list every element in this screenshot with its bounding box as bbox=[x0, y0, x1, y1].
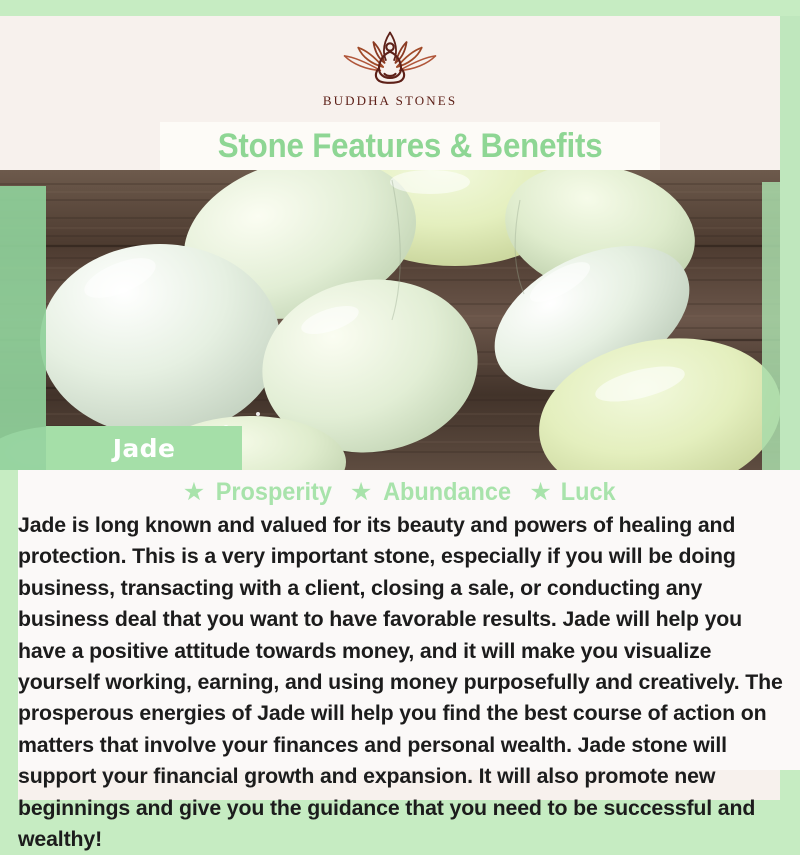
poster-root: BUDDHA STONES Stone Features & Benefits bbox=[0, 0, 800, 800]
stone-photo-image bbox=[0, 170, 800, 470]
stone-name-label: Jade bbox=[113, 434, 176, 463]
stone-photo bbox=[0, 170, 800, 470]
brand-header: BUDDHA STONES bbox=[0, 16, 780, 120]
frame-bar-left bbox=[0, 470, 18, 800]
lotus-meditation-icon bbox=[334, 27, 446, 89]
benefits-row: ★ Prosperity ★ Abundance ★ Luck bbox=[0, 478, 800, 507]
star-icon: ★ bbox=[350, 480, 372, 505]
star-icon: ★ bbox=[183, 480, 205, 505]
photo-accent-bar-right bbox=[762, 182, 782, 470]
brand-name: BUDDHA STONES bbox=[323, 93, 457, 109]
page-title: Stone Features & Benefits bbox=[218, 127, 603, 166]
benefit-item: ★ Prosperity bbox=[183, 478, 336, 507]
photo-accent-bar-left bbox=[0, 186, 46, 470]
benefit-label: Abundance bbox=[383, 478, 511, 507]
benefit-item: ★ Luck bbox=[529, 478, 617, 507]
benefit-label: Prosperity bbox=[216, 478, 332, 507]
description-paragraph: Jade is long known and valued for its be… bbox=[18, 510, 790, 855]
frame-bar-right bbox=[780, 16, 800, 470]
title-banner: Stone Features & Benefits bbox=[160, 122, 660, 170]
benefit-label: Luck bbox=[561, 478, 616, 507]
stone-name-band: Jade bbox=[46, 426, 242, 470]
benefit-item: ★ Abundance bbox=[350, 478, 516, 507]
star-icon: ★ bbox=[529, 480, 551, 505]
